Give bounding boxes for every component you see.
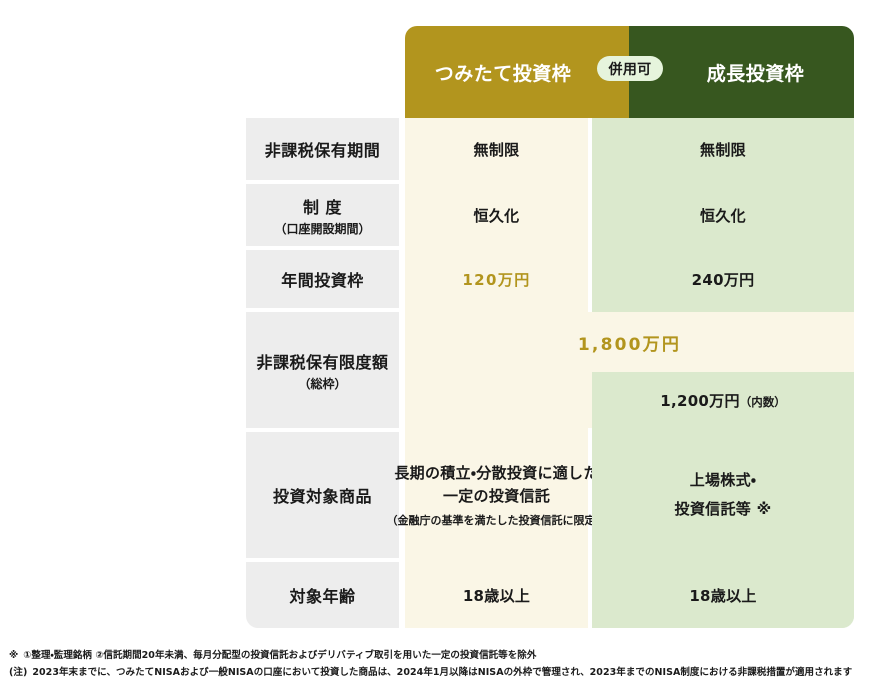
footnote-marker: ※ [9, 650, 18, 661]
cell-eligible-age-seicho: 18歳以上 [592, 562, 854, 628]
header-label-seicho: 成長投資枠 [707, 59, 805, 86]
cell-eligible-products-seicho: 上場株式・ 投資信託等 ※ [592, 432, 854, 558]
cell-value-note: （金融庁の基準を満たした投資信託に限定） [387, 512, 607, 528]
cell-value-growth-suffix: （内数） [740, 395, 786, 409]
cell-value: 恒久化 [700, 205, 746, 226]
row-label-lifetime-limit: 非課税保有限度額 （総枠） [246, 312, 399, 428]
row-label-text: 非課税保有期間 [265, 137, 381, 161]
cell-value: 無制限 [700, 139, 746, 160]
row-label-system-period: 制 度 （口座開設期間） [246, 184, 399, 246]
row-label-subtext: （口座開設期間） [274, 220, 370, 237]
cell-value: 120万円 [462, 269, 530, 290]
row-label-text: 制 度 [303, 194, 342, 218]
cell-value: 18歳以上 [689, 585, 756, 606]
row-label-eligible-age: 対象年齢 [246, 562, 399, 628]
cell-eligible-age-tsumitate: 18歳以上 [405, 562, 588, 628]
combined-use-badge: 併用可 [597, 56, 663, 81]
header-cell-tsumitate: つみたて投資枠 [405, 26, 629, 118]
cell-lifetime-limit-seicho: 1,200万円（内数） [592, 372, 854, 428]
footnote-asterisk: ※①整理・監理銘柄 ②信託期間20年未満、毎月分配型の投資信託およびデリバティブ… [9, 648, 865, 665]
cell-value: 240万円 [692, 269, 755, 290]
header-cell-seicho: 成長投資枠 [629, 26, 854, 118]
footnotes: ※①整理・監理銘柄 ②信託期間20年未満、毎月分配型の投資信託およびデリバティブ… [9, 648, 865, 681]
cell-holding-period-tsumitate: 無制限 [405, 118, 588, 180]
cell-value-growth: 1,200万円（内数） [660, 390, 786, 411]
row-label-text: 年間投資枠 [281, 267, 364, 291]
cell-value-line1: 長期の積立・分散投資に適した [394, 462, 598, 485]
row-label-holding-period: 非課税保有期間 [246, 118, 399, 180]
cell-value-growth-amount: 1,200万円 [660, 392, 740, 410]
cell-eligible-products-tsumitate: 長期の積立・分散投資に適した 一定の投資信託 （金融庁の基準を満たした投資信託に… [405, 432, 588, 558]
cell-system-period-seicho: 恒久化 [592, 184, 854, 246]
table-body: 非課税保有期間 無制限 無制限 制 度 （口座開設期間） 恒久化 恒久化 年間投… [246, 118, 854, 628]
cell-value: 18歳以上 [463, 585, 530, 606]
row-label-text: 投資対象商品 [273, 483, 372, 507]
cell-system-period-tsumitate: 恒久化 [405, 184, 588, 246]
cell-annual-limit-tsumitate: 120万円 [405, 250, 588, 308]
cell-value-line2: 投資信託等 ※ [675, 498, 772, 521]
cell-holding-period-seicho: 無制限 [592, 118, 854, 180]
footnote-text: ①整理・監理銘柄 ②信託期間20年未満、毎月分配型の投資信託およびデリバティブ取… [23, 650, 536, 661]
header-label-tsumitate: つみたて投資枠 [435, 59, 572, 86]
cell-value-line1: 上場株式・ [690, 469, 757, 492]
footnote-marker: (注) [9, 667, 27, 678]
row-label-text: 非課税保有限度額 [256, 349, 388, 373]
nisa-comparison-table: つみたて投資枠 成長投資枠 併用可 非課税保有期間 無制限 無制限 制 度 （口… [0, 0, 870, 691]
cell-value: 無制限 [474, 139, 520, 160]
row-label-text: 対象年齢 [289, 583, 355, 607]
cell-value-line2: 一定の投資信託 [443, 485, 550, 508]
footnote-note: (注)2023年末までに、つみたてNISAおよび一般NISAの口座において投資し… [9, 665, 865, 682]
cell-value-total: 1,800万円 [578, 330, 681, 355]
cell-value: 恒久化 [474, 205, 520, 226]
combined-use-badge-label: 併用可 [609, 59, 652, 79]
footnote-text: 2023年末までに、つみたてNISAおよび一般NISAの口座において投資した商品… [32, 667, 852, 678]
cell-annual-limit-seicho: 240万円 [592, 250, 854, 308]
row-label-subtext: （総枠） [298, 375, 346, 392]
row-label-annual-limit: 年間投資枠 [246, 250, 399, 308]
row-label-eligible-products: 投資対象商品 [246, 432, 399, 558]
